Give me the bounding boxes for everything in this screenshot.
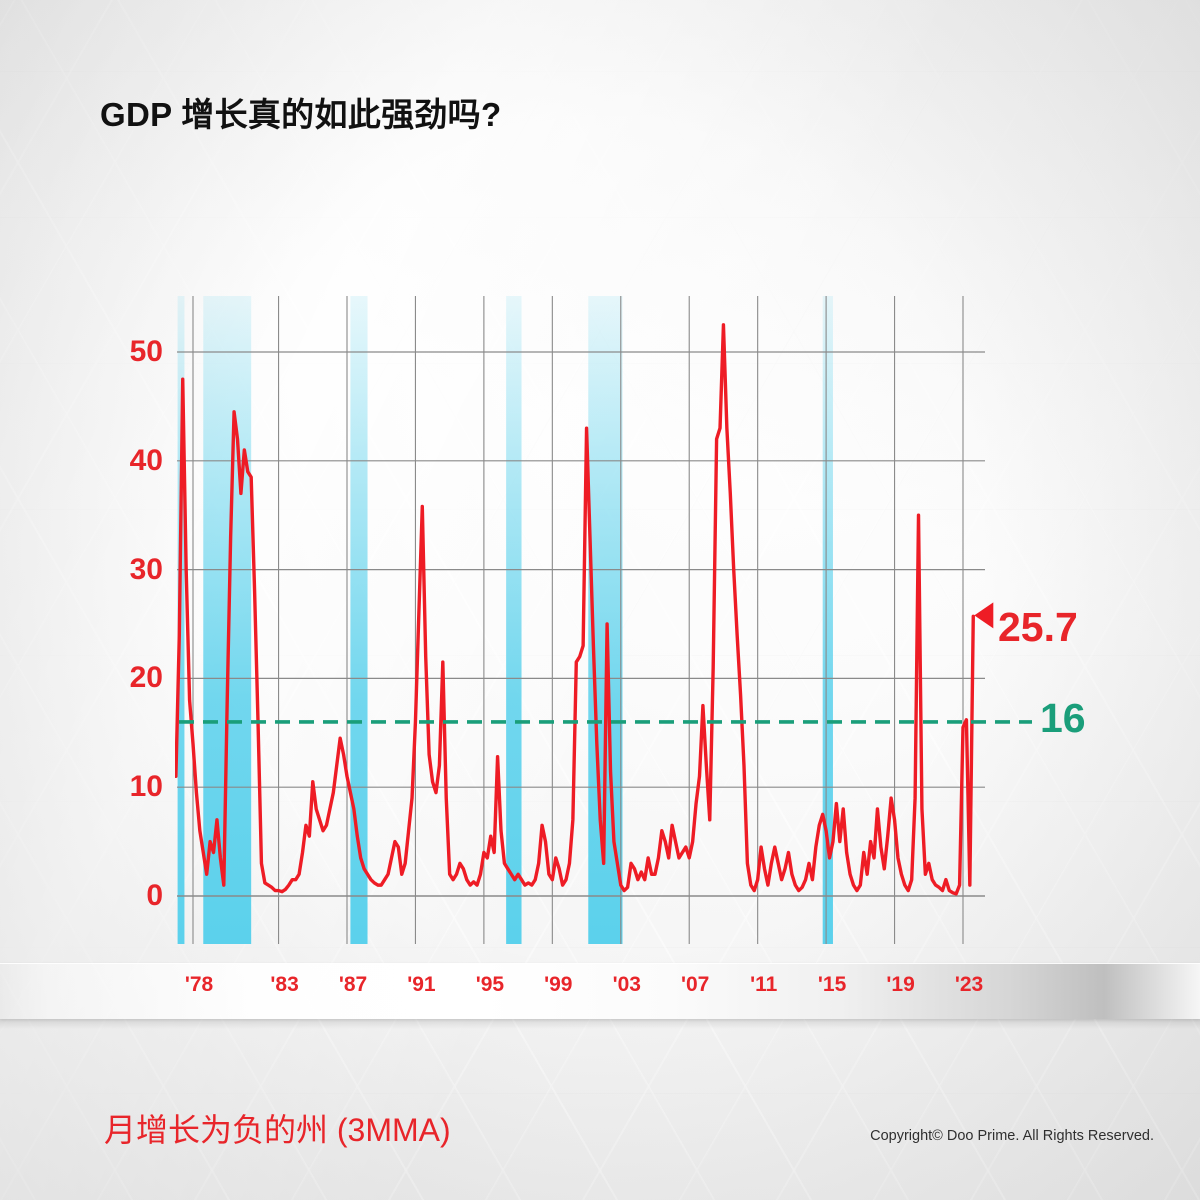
data-line <box>176 325 973 894</box>
x-axis-tick-label: '78 <box>185 973 213 997</box>
y-axis-tick-label: 30 <box>103 553 163 587</box>
last-point-marker <box>974 602 993 628</box>
x-axis-tick-label: '11 <box>750 973 777 997</box>
average-value-annotation: 16 <box>1040 695 1086 742</box>
x-axis-tick-label: '19 <box>886 973 914 997</box>
recession-band <box>506 296 521 944</box>
x-axis-tick-label: '83 <box>270 973 298 997</box>
x-axis-tick-label: '03 <box>613 973 641 997</box>
grid-lines <box>177 296 985 944</box>
x-axis-tick-label: '95 <box>476 973 504 997</box>
chart-subtitle: 月增长为负的州 (3MMA) <box>104 1105 451 1151</box>
x-axis-tick-label: '87 <box>339 973 367 997</box>
last-value-annotation: 25.7 <box>998 604 1078 651</box>
x-axis-tick-label: '07 <box>681 973 709 997</box>
y-axis-tick-label: 20 <box>103 661 163 695</box>
copyright-text: Copyright© Doo Prime. All Rights Reserve… <box>870 1128 1154 1144</box>
x-axis-tick-label: '15 <box>818 973 846 997</box>
x-axis-tick-label: '91 <box>407 973 435 997</box>
y-axis-tick-label: 0 <box>103 879 163 913</box>
y-axis-tick-label: 50 <box>103 335 163 369</box>
y-axis-tick-label: 40 <box>103 444 163 478</box>
x-axis-tick-label: '23 <box>955 973 983 997</box>
x-axis-tick-label: '99 <box>544 973 572 997</box>
chart-svg <box>0 0 1200 1200</box>
y-axis-tick-label: 10 <box>103 770 163 804</box>
